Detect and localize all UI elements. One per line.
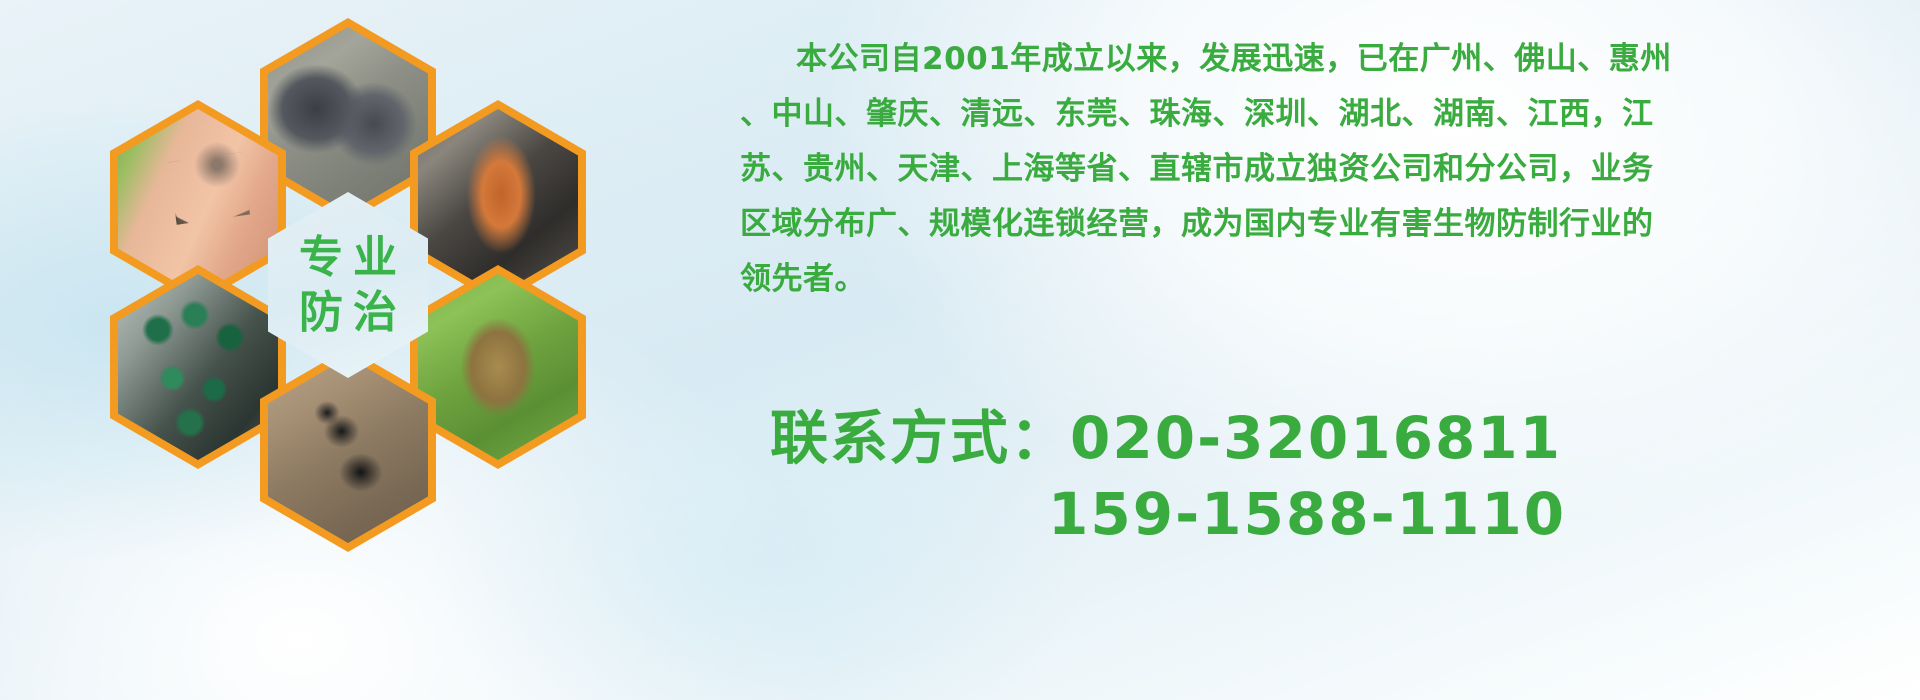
company-description: 本公司自2001年成立以来，发展迅速，已在广州、佛山、惠州 、中山、肇庆、清远、… [740, 32, 1900, 307]
contact-label: 联系方式： [770, 404, 1070, 472]
description-text-1: 本公司自2001年成立以来，发展迅速，已在广州、佛山、惠州 [796, 41, 1672, 77]
contact-block: 联系方式：020-32016811 159-1588-1110 [770, 400, 1900, 552]
hex-brand-badge: 专业 防治 [260, 183, 436, 387]
description-line-5: 领先者。 [740, 252, 1900, 307]
honeycomb-photo-cluster: 专业 防治 [80, 0, 600, 580]
flies-image [118, 274, 278, 460]
stinkbug-image [418, 274, 578, 460]
description-line-2: 、中山、肇庆、清远、东莞、珠海、深圳、湖北、湖南、江西，江 [740, 87, 1900, 142]
contact-phone-secondary[interactable]: 159-1588-1110 [770, 476, 1900, 552]
description-line-4: 区域分布广、规模化连锁经营，成为国内专业有害生物防制行业的 [740, 197, 1900, 252]
promo-banner: 专业 防治 本公司自2001年成立以来，发展迅速，已在广州、佛山、惠州 、中山、… [0, 0, 1920, 700]
contact-primary-row: 联系方式：020-32016811 [770, 400, 1900, 476]
description-line-3: 苏、贵州、天津、上海等省、直辖市成立独资公司和分公司，业务 [740, 142, 1900, 197]
brand-badge-line2: 防治 [289, 285, 407, 340]
contact-phone-primary[interactable]: 020-32016811 [1070, 404, 1562, 472]
description-line-1: 本公司自2001年成立以来，发展迅速，已在广州、佛山、惠州 [740, 32, 1900, 87]
brand-badge-line1: 专业 [289, 230, 407, 285]
hex-photo-flies[interactable] [110, 265, 286, 469]
hex-photo-stinkbug[interactable] [410, 265, 586, 469]
